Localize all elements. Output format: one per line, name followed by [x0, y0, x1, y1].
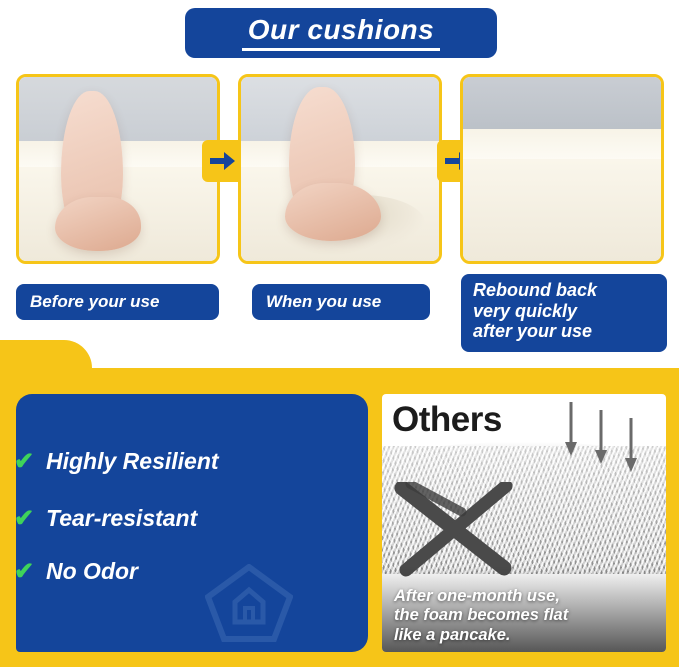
feature-label: Tear-resistant	[46, 505, 197, 532]
others-comparison-panel: Others	[382, 394, 666, 652]
title-banner: Our cushions	[185, 8, 497, 58]
feature-label: No Odor	[46, 558, 138, 585]
check-icon: ✔	[14, 560, 34, 584]
product-infographic: Our cushions	[0, 0, 679, 667]
caption-when-you-use: When you use	[252, 284, 430, 320]
caption-line: after your use	[473, 321, 657, 342]
others-caption-line: like a pancake.	[394, 626, 660, 646]
caption-text: Before your use	[30, 292, 159, 312]
yellow-notch-decoration	[0, 340, 92, 370]
foot-toes-shape	[55, 197, 141, 251]
feature-item: ✔ No Odor	[46, 558, 138, 585]
others-caption-line: the foam becomes flat	[394, 606, 660, 626]
fist-knuckles-shape	[285, 183, 381, 241]
down-arrow-icon	[594, 410, 608, 466]
caption-line: very quickly	[473, 301, 657, 322]
caption-rebound-back: Rebound back very quickly after your use	[461, 274, 667, 352]
feature-item: ✔ Tear-resistant	[46, 505, 197, 532]
page-title: Our cushions	[242, 15, 440, 51]
down-arrow-icon	[564, 402, 578, 458]
step-photo-before-use	[16, 74, 220, 264]
feature-label: Highly Resilient	[46, 448, 219, 475]
caption-before-your-use: Before your use	[16, 284, 219, 320]
feature-item: ✔ Highly Resilient	[46, 448, 219, 475]
others-caption-line: After one-month use,	[394, 587, 660, 607]
foam-block	[463, 129, 661, 261]
caption-line: Rebound back	[473, 280, 657, 301]
check-icon: ✔	[14, 507, 34, 531]
down-arrow-icon	[624, 418, 638, 474]
others-caption: After one-month use, the foam becomes fl…	[394, 587, 660, 646]
check-icon: ✔	[14, 450, 34, 474]
foam-top-surface	[463, 129, 661, 159]
others-title: Others	[392, 400, 502, 440]
caption-text: When you use	[266, 292, 381, 312]
house-logo-watermark	[205, 564, 293, 642]
step-photo-when-you-use	[238, 74, 442, 264]
step-photo-rebound	[460, 74, 664, 264]
